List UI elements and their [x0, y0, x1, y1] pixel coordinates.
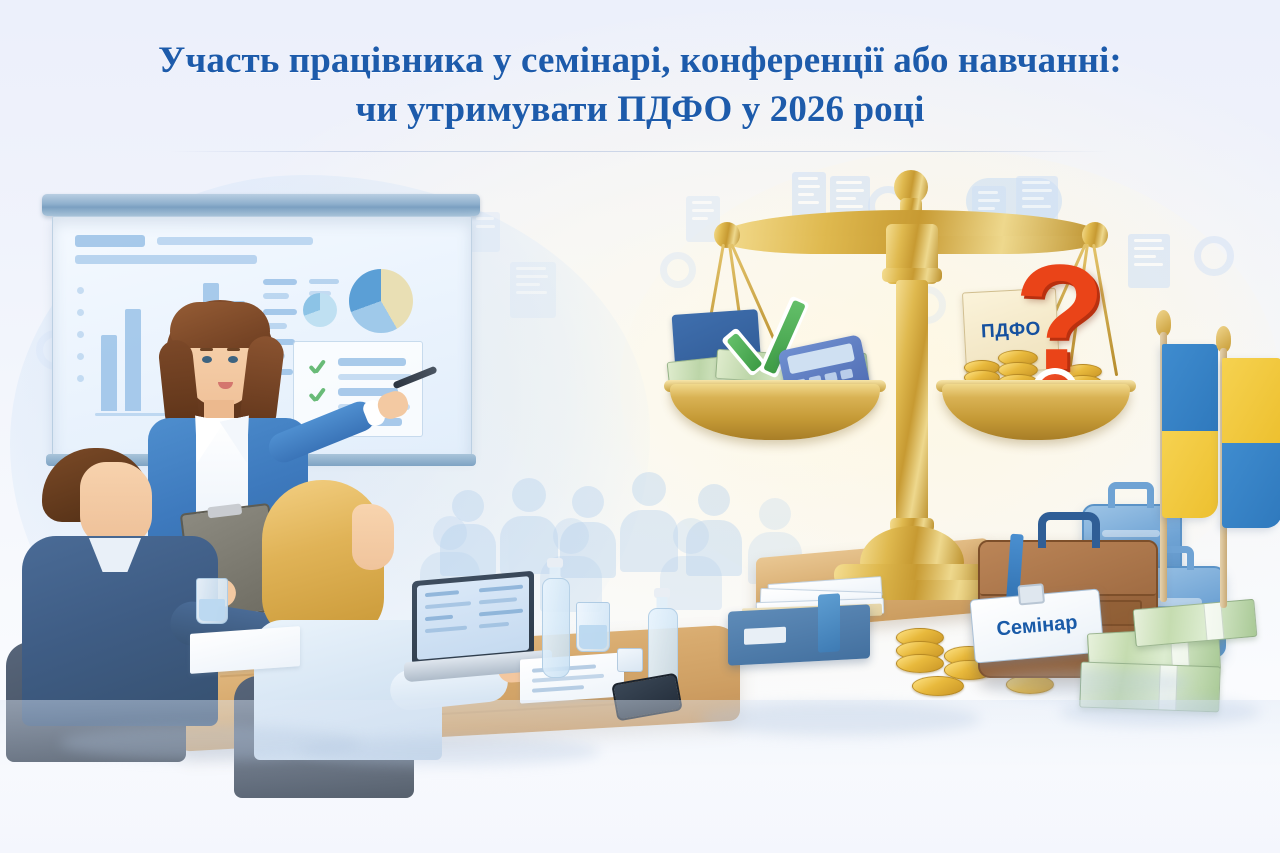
ukrainian-flag-right: [1206, 326, 1280, 626]
projector-screen-bar: [42, 194, 480, 216]
seated-man: [20, 440, 270, 740]
paper-documents: [520, 652, 624, 703]
sugar-cube: [617, 648, 643, 672]
title-line-2: чи утримувати ПДФО у 2026 році: [0, 85, 1280, 134]
gold-coin: [912, 676, 964, 696]
man-face: [80, 462, 152, 546]
scale-pan-right: [942, 384, 1130, 440]
background-document-icon: [1128, 234, 1170, 288]
drop-shadow: [1060, 698, 1260, 726]
scale-pan-right-group: ПДФО ?: [936, 376, 1136, 436]
background-gear-icon: [660, 252, 696, 288]
background-gear-icon: [1194, 236, 1234, 276]
drop-shadow: [300, 736, 600, 766]
screen-pie-chart-large: [349, 269, 413, 333]
scale-pan-left-group: [664, 376, 886, 436]
document-binder: [728, 604, 870, 665]
laptop-screen: [412, 571, 534, 666]
presenter-brow-right: [227, 348, 240, 351]
question-mark-icon: ?: [1014, 258, 1112, 380]
seminar-badge: Семінар: [969, 588, 1104, 663]
drop-shadow: [980, 668, 1190, 698]
water-bottle: [542, 558, 568, 676]
title-divider: [170, 151, 1110, 152]
seated-woman-face: [352, 504, 394, 570]
binder-strap: [818, 593, 840, 653]
title-line-1: Участь працівника у семінарі, конференці…: [0, 36, 1280, 85]
water-glass: [576, 602, 610, 652]
laptop-display: [417, 576, 529, 660]
presenter-eye-left: [202, 356, 212, 363]
paper-documents: [190, 626, 300, 674]
background-document-icon: [470, 212, 500, 252]
presenter-eye-right: [228, 356, 238, 363]
seminar-badge-label: Семінар: [996, 611, 1079, 641]
ground-gradient: [0, 700, 1280, 853]
poster-canvas: Участь працівника у семінарі, конференці…: [0, 0, 1280, 853]
drop-shadow: [700, 702, 980, 736]
flag-cloth: [1222, 358, 1280, 528]
presenter-brow-left: [200, 348, 213, 351]
scale-arm-end-left: [714, 222, 740, 248]
page-title: Участь працівника у семінарі, конференці…: [0, 36, 1280, 134]
gold-coin: [896, 654, 944, 673]
background-document-icon: [510, 262, 556, 318]
scale-column: [896, 280, 928, 528]
scale-pan-left: [670, 384, 880, 440]
binder-label: [744, 627, 786, 645]
briefcase-handle: [1038, 512, 1100, 548]
water-glass: [196, 578, 228, 624]
badge-clip: [1017, 583, 1045, 605]
